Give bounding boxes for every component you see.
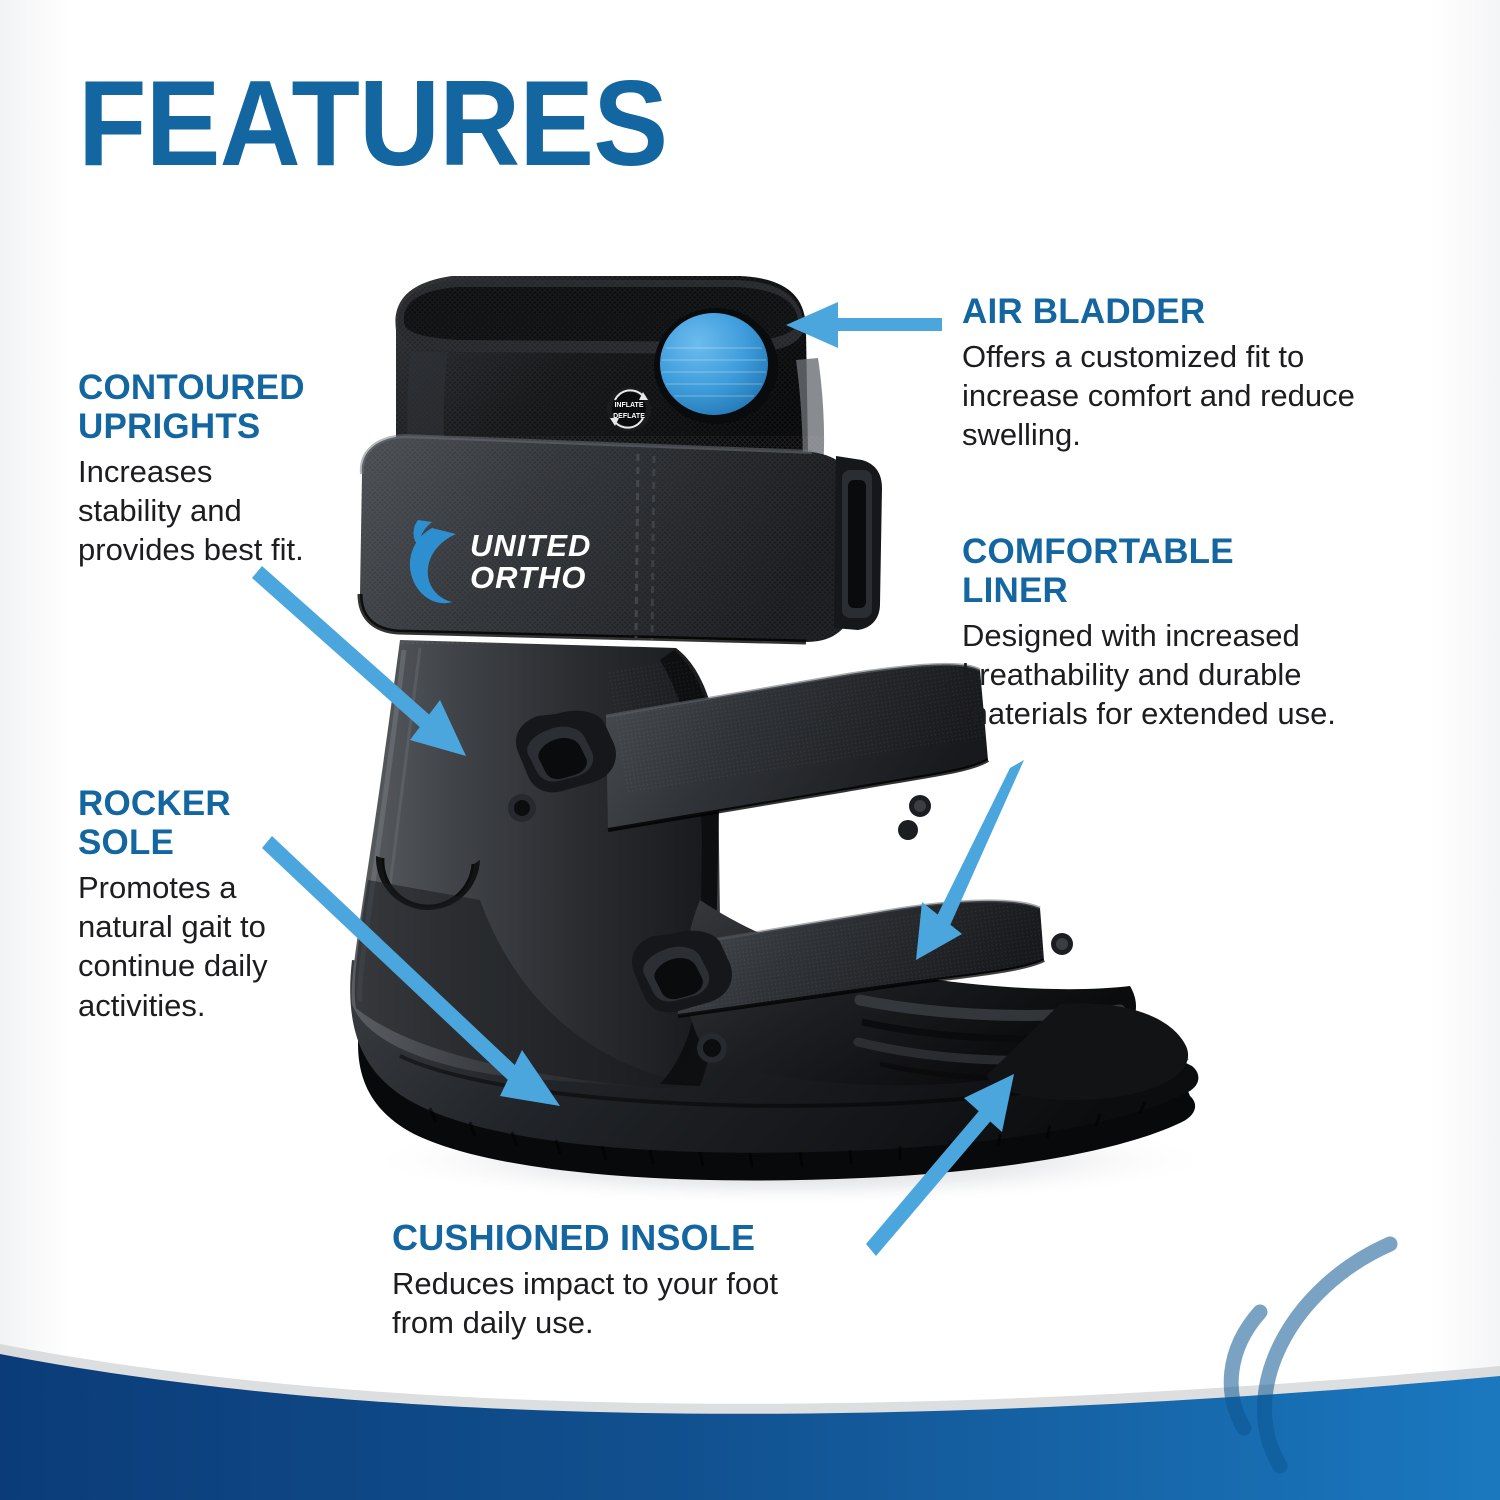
feature-body: Increases stability and provides best fi…: [78, 452, 378, 569]
feature-cushioned-insole: CUSHIONED INSOLE Reduces impact to your …: [392, 1218, 862, 1342]
feature-contoured-uprights: CONTOURED UPRIGHTS Increases stability a…: [78, 368, 378, 570]
feature-body: Offers a customized fit to increase comf…: [962, 337, 1442, 454]
feature-rocker-sole: ROCKER SOLE Promotes a natural gait to c…: [78, 784, 368, 1025]
feature-comfortable-liner: COMFORTABLE LINER Designed with increase…: [962, 532, 1432, 734]
band-watermark-swoosh-icon: [1140, 1200, 1500, 1500]
feature-heading: AIR BLADDER: [962, 292, 1442, 331]
feature-body: Reduces impact to your foot from daily u…: [392, 1264, 862, 1342]
brand-text-united: UNITED: [470, 528, 591, 563]
inflate-deflate-valve[interactable]: INFLATE DEFLATE: [607, 387, 651, 431]
air-bladder: [654, 308, 778, 424]
brand-text-ortho: ORTHO: [470, 560, 586, 595]
calf-strap: UNITED ORTHO: [360, 436, 882, 644]
feature-heading: ROCKER SOLE: [78, 784, 368, 862]
feature-body: Designed with increased breathability an…: [962, 616, 1432, 733]
valve-inflate-label: INFLATE: [614, 402, 643, 409]
feature-heading: CONTOURED UPRIGHTS: [78, 368, 378, 446]
midfoot-strap: [606, 612, 1006, 830]
valve-deflate-label: DEFLATE: [613, 413, 645, 420]
feature-body: Promotes a natural gait to continue dail…: [78, 868, 368, 1024]
infographic-canvas: FEATURES: [0, 0, 1500, 1500]
feature-heading: COMFORTABLE LINER: [962, 532, 1432, 610]
feature-air-bladder: AIR BLADDER Offers a customized fit to i…: [962, 292, 1442, 454]
feature-heading: CUSHIONED INSOLE: [392, 1218, 862, 1258]
